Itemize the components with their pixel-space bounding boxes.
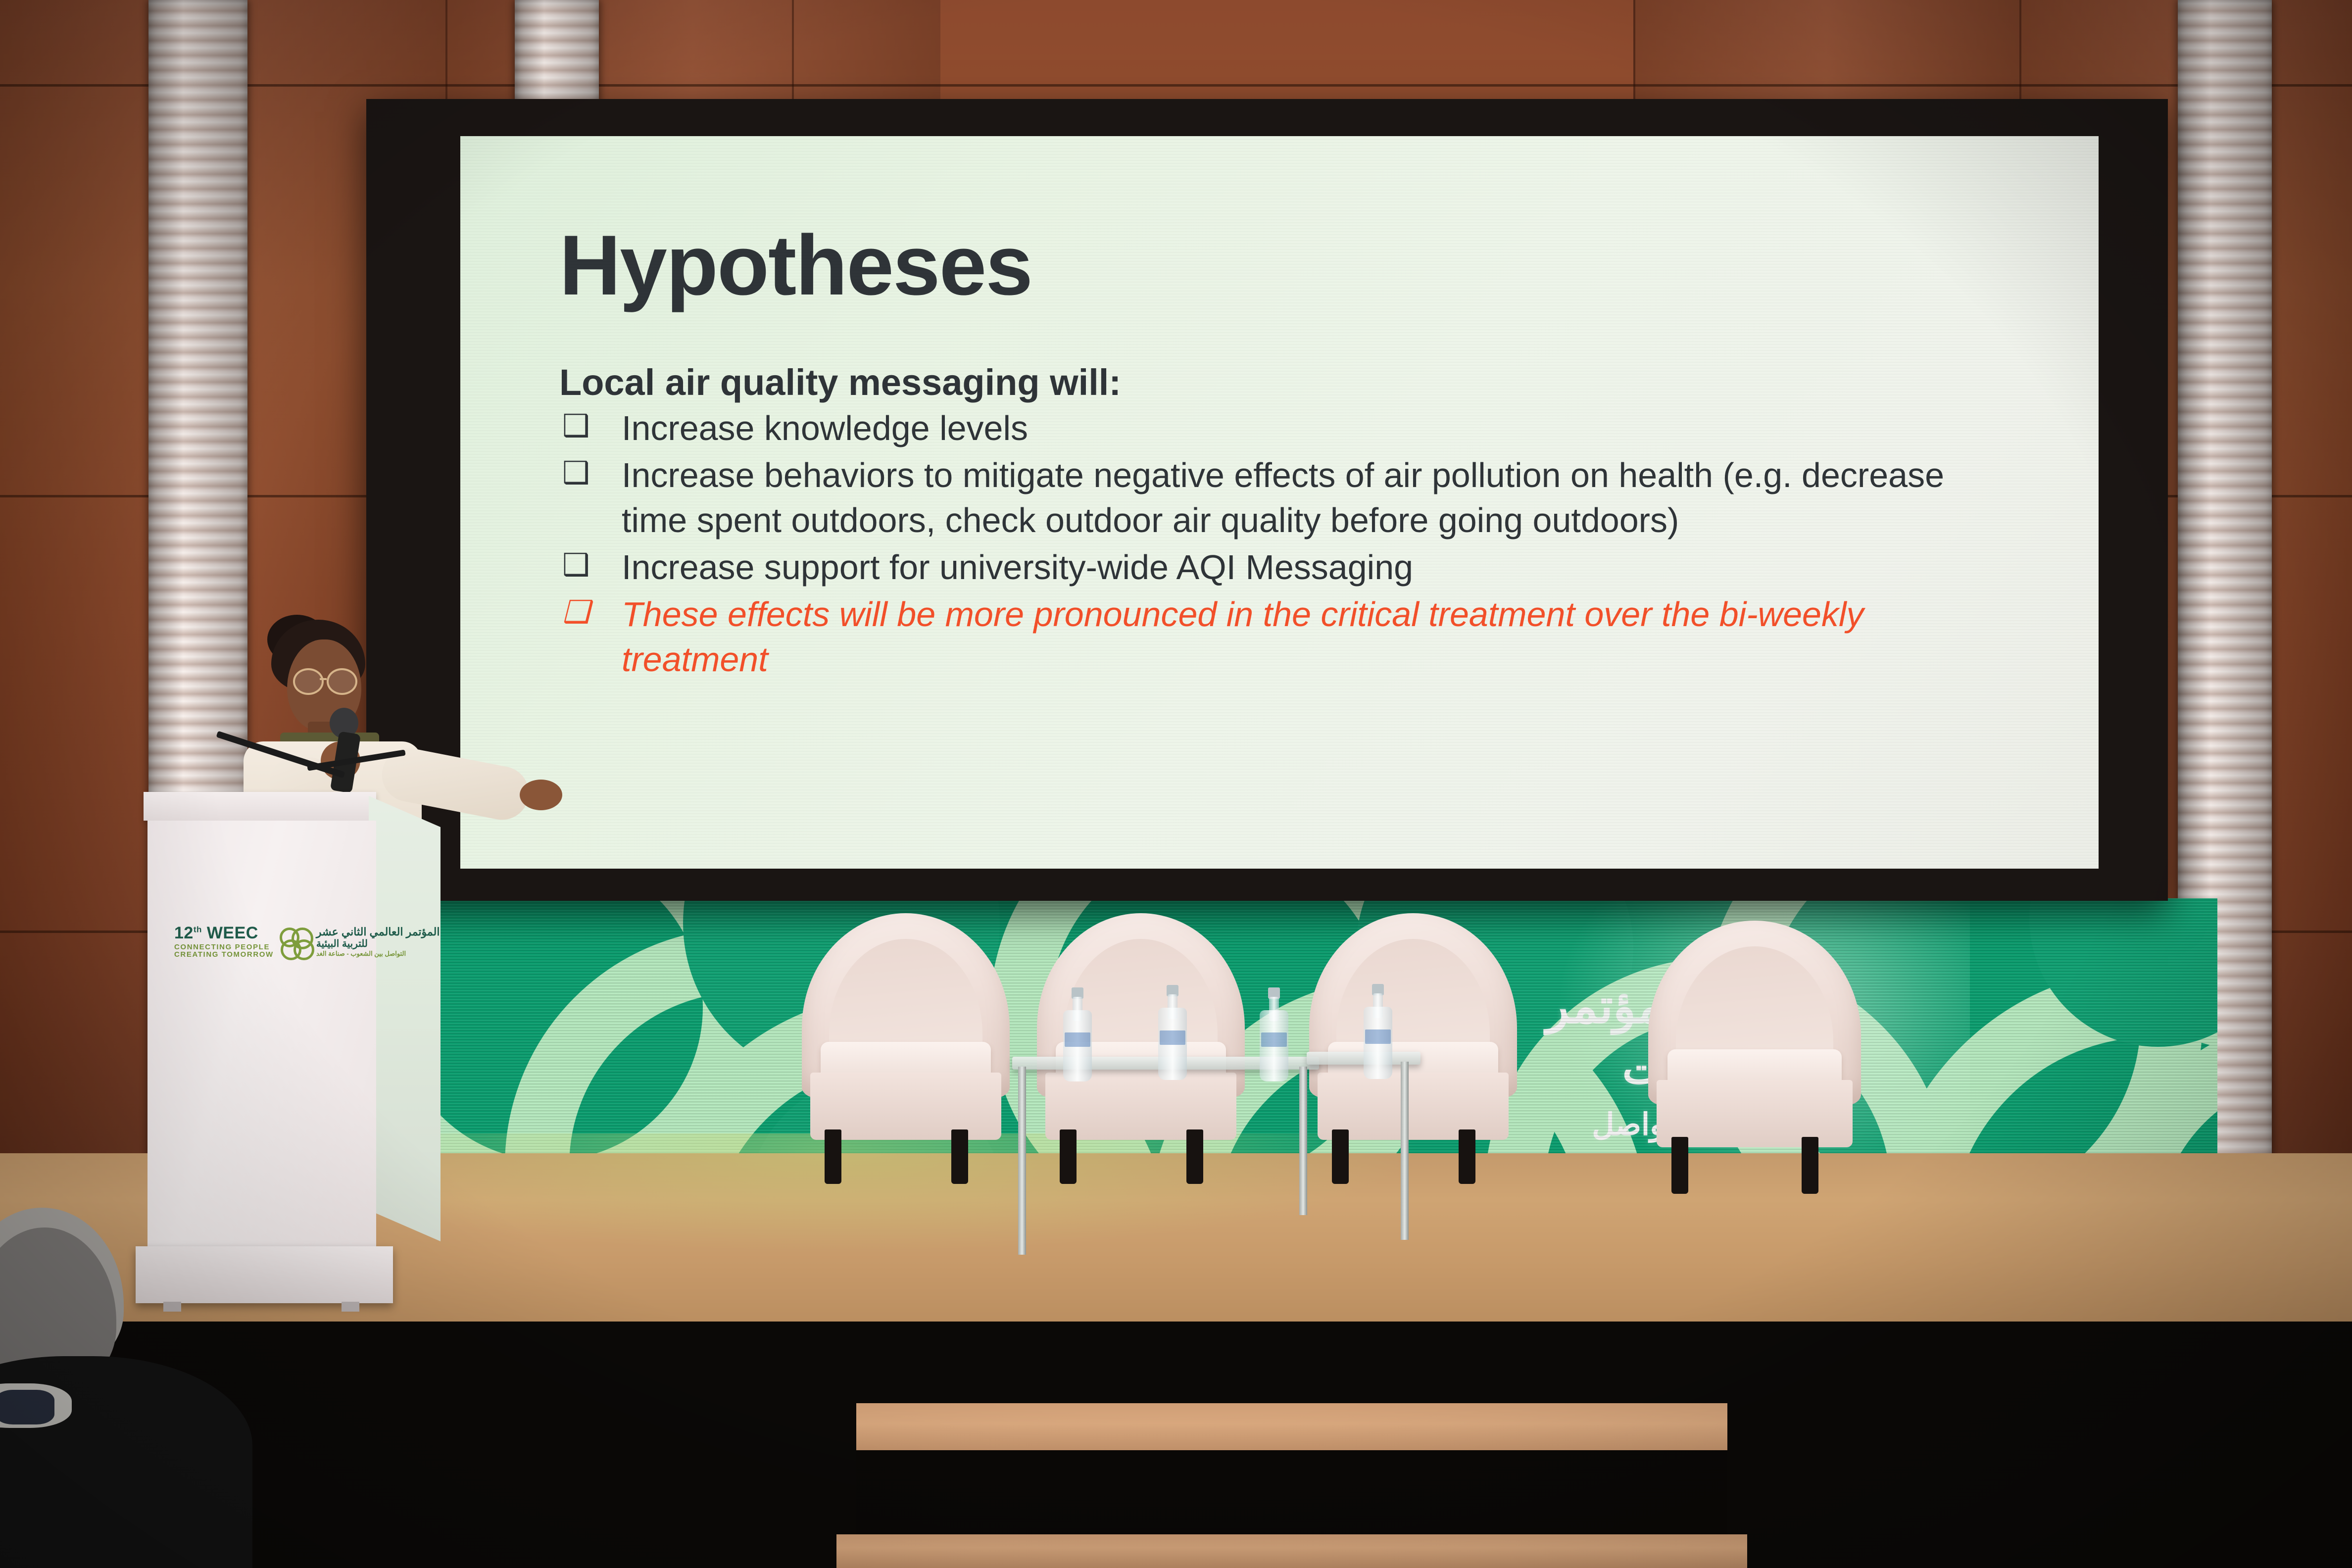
presentation-slide: Hypotheses Local air quality messaging w… [460, 136, 2099, 869]
podium-top-rail [144, 792, 376, 821]
speaker-right-hand [520, 780, 562, 810]
slide-bullet-item: ❑ Increase support for university-wide A… [559, 545, 1995, 590]
side-table [1307, 1052, 1421, 1240]
podium-right-face [369, 796, 441, 1241]
podium-foot [342, 1302, 359, 1312]
checkbox-bullet-icon: ❑ [559, 406, 622, 446]
stage-step-lower-tread [836, 1534, 1747, 1568]
water-bottle [1158, 985, 1187, 1080]
logo-arabic-line3: التواصل بين الشعوب - صناعة الغد [316, 950, 406, 957]
speaker-glasses-bridge [320, 678, 327, 680]
logo-arabic-block: المؤتمر العالمي الثاني عشر للتربية البيئ… [316, 926, 440, 958]
stage-step-upper-riser [856, 1450, 1727, 1539]
stage-chair [802, 913, 1010, 1171]
water-bottle [1063, 987, 1092, 1081]
water-bottle [1260, 987, 1288, 1081]
water-bottle [1364, 984, 1392, 1079]
stage-chair [1648, 921, 1861, 1178]
speaker-glasses-right [327, 668, 357, 695]
slide-bullet-item: ❑ Increase behaviors to mitigate negativ… [559, 453, 1995, 543]
logo-edition-number: 12 [174, 924, 194, 942]
weec-conference-logo: 12th WEEC CONNECTING PEOPLE CREATING TOM… [174, 925, 440, 958]
logo-edition-suffix: th [194, 925, 202, 934]
audience-member-foreground [0, 1208, 252, 1568]
slide-bullet-text-accent: These effects will be more pronounced in… [622, 592, 1995, 682]
checkbox-bullet-icon: ❑ [559, 545, 622, 586]
logo-weec-text: WEEC [207, 924, 258, 942]
podium-front-face [147, 821, 376, 1247]
projection-screen-bezel: Hypotheses Local air quality messaging w… [366, 99, 2168, 901]
slide-bullet-item: ❑ Increase knowledge levels [559, 406, 1995, 451]
logo-acronym: 12th WEEC [174, 925, 274, 941]
stage-step-upper-tread [856, 1403, 1727, 1455]
slide-bullet-list: ❑ Increase knowledge levels ❑ Increase b… [559, 406, 1995, 684]
logo-english-block: 12th WEEC CONNECTING PEOPLE CREATING TOM… [174, 925, 274, 958]
audience-jacket-collar [0, 1390, 54, 1424]
logo-arabic-line2: للتربية البيئية [316, 938, 368, 950]
slide-title: Hypotheses [559, 223, 1032, 308]
logo-tagline-line2: CREATING TOMORROW [174, 951, 274, 958]
slide-bullet-item-accent: ❑ These effects will be more pronounced … [559, 592, 1995, 682]
slide-bullet-text: Increase knowledge levels [622, 406, 1995, 451]
logo-tagline-line1: CONNECTING PEOPLE [174, 943, 274, 951]
checkbox-bullet-icon: ❑ [559, 453, 622, 493]
logo-arabic-line1: المؤتمر العالمي الثاني عشر [316, 926, 440, 938]
slide-bullet-text: Increase support for university-wide AQI… [622, 545, 1995, 590]
conference-photo-scene: المؤتمر للت التواصل Hypotheses Local air… [0, 0, 2352, 1568]
logo-emblem-icon [280, 928, 310, 955]
side-table [1012, 1057, 1319, 1255]
slide-lead-in: Local air quality messaging will: [559, 361, 1121, 403]
slide-bullet-text: Increase behaviors to mitigate negative … [622, 453, 1995, 543]
speaker-glasses-left [293, 668, 324, 695]
